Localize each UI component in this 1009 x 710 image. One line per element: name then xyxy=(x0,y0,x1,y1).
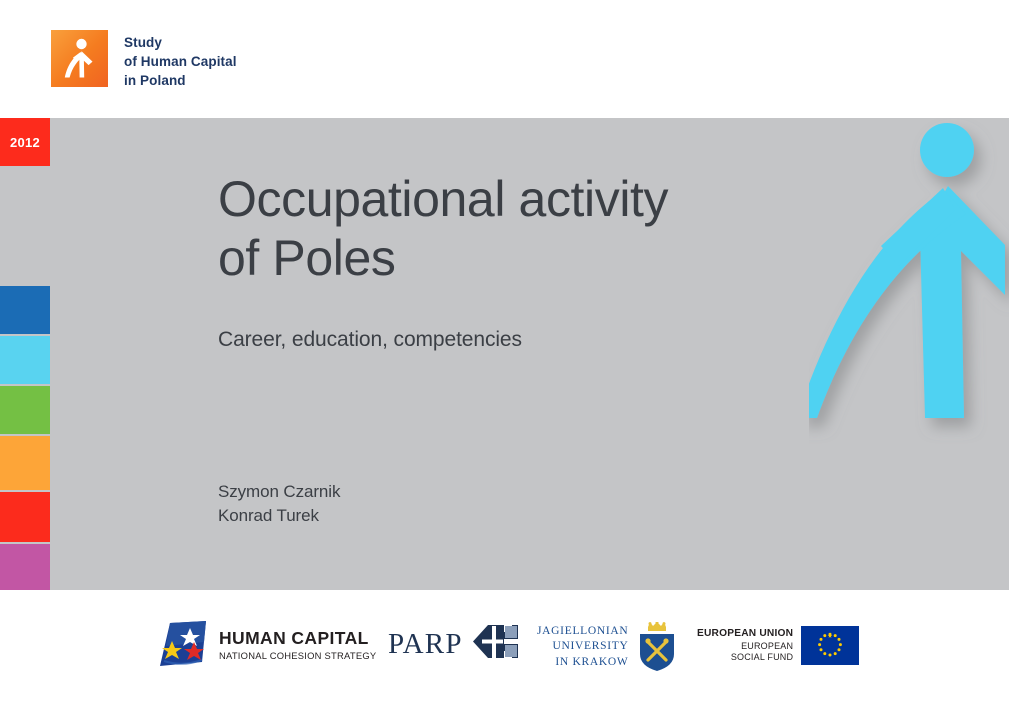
parp-diamond-arrow-icon xyxy=(472,625,518,663)
mosaic-cell xyxy=(103,168,151,226)
human-capital-stars-icon xyxy=(158,620,210,670)
human-capital-title: HUMAN CAPITAL xyxy=(219,630,376,648)
mosaic-swatch-year-red: 2012 xyxy=(0,118,50,166)
brand-header: Study of Human Capital in Poland xyxy=(51,30,381,96)
mosaic-cell xyxy=(103,436,151,490)
mosaic-cell xyxy=(0,168,50,226)
university-line-3: IN KRAKOW xyxy=(537,655,628,671)
human-capital-wordmark: HUMAN CAPITAL NATIONAL COHESION STRATEGY xyxy=(219,630,376,660)
logo-parp: PARP xyxy=(388,625,518,663)
mosaic-cell xyxy=(52,492,101,542)
authors-list: Szymon Czarnik Konrad Turek xyxy=(218,480,340,528)
mosaic-swatch-blue xyxy=(0,286,50,334)
mosaic-cell xyxy=(52,118,101,166)
page-title: Occupational activity of Poles xyxy=(218,170,818,288)
footer-logo-strip: HUMAN CAPITAL NATIONAL COHESION STRATEGY… xyxy=(0,612,1009,692)
year-label: 2012 xyxy=(0,118,50,166)
color-mosaic: 2012 xyxy=(0,118,153,590)
mosaic-swatch-orange xyxy=(0,436,50,490)
jagiellonian-crest-icon xyxy=(636,622,678,672)
mosaic-cell-merged xyxy=(52,286,151,434)
logo-jagiellonian-university: JAGIELLONIAN UNIVERSITY IN KRAKOW xyxy=(537,622,678,672)
logo-european-union: EUROPEAN UNION EUROPEAN SOCIAL FUND xyxy=(697,626,859,665)
mosaic-cell xyxy=(103,118,151,166)
brand-wordmark: Study of Human Capital in Poland xyxy=(124,30,237,90)
human-capital-subtitle: NATIONAL COHESION STRATEGY xyxy=(219,651,376,660)
mosaic-cell xyxy=(52,544,101,590)
logo-human-capital: HUMAN CAPITAL NATIONAL COHESION STRATEGY xyxy=(158,620,376,670)
eu-line-1: EUROPEAN UNION xyxy=(697,628,793,640)
mosaic-cell xyxy=(52,228,101,284)
mosaic-swatch-red xyxy=(0,492,50,542)
mosaic-cell xyxy=(103,492,151,542)
walking-person-arrow-icon xyxy=(51,30,108,87)
brand-line-1: Study xyxy=(124,33,237,52)
eu-line-3: SOCIAL FUND xyxy=(697,652,793,663)
title-block: Occupational activity of Poles Career, e… xyxy=(218,170,818,352)
eu-line-2: EUROPEAN xyxy=(697,641,793,652)
walking-person-arrow-icon xyxy=(809,118,1009,590)
mosaic-cell xyxy=(103,228,151,284)
university-line-1: JAGIELLONIAN xyxy=(537,624,628,640)
brand-line-3: in Poland xyxy=(124,71,237,90)
mosaic-swatch-green xyxy=(0,386,50,434)
shc-logo-mark xyxy=(51,30,108,87)
hero-figure xyxy=(809,118,1009,590)
mosaic-cell xyxy=(0,228,50,284)
mosaic-cell xyxy=(52,436,101,490)
parp-wordmark: PARP xyxy=(388,628,463,661)
university-line-2: UNIVERSITY xyxy=(537,639,628,655)
mosaic-cell xyxy=(52,168,101,226)
mosaic-cell xyxy=(103,544,151,590)
page-subtitle: Career, education, competencies xyxy=(218,288,818,352)
eu-flag-icon xyxy=(801,626,859,665)
eu-wordmark: EUROPEAN UNION EUROPEAN SOCIAL FUND xyxy=(697,628,793,662)
mosaic-swatch-light-blue xyxy=(0,336,50,384)
cover-stage: 2012 Occupational activity of Poles xyxy=(0,118,1009,590)
mosaic-swatch-magenta xyxy=(0,544,50,590)
brand-line-2: of Human Capital xyxy=(124,52,237,71)
university-wordmark: JAGIELLONIAN UNIVERSITY IN KRAKOW xyxy=(537,624,628,671)
